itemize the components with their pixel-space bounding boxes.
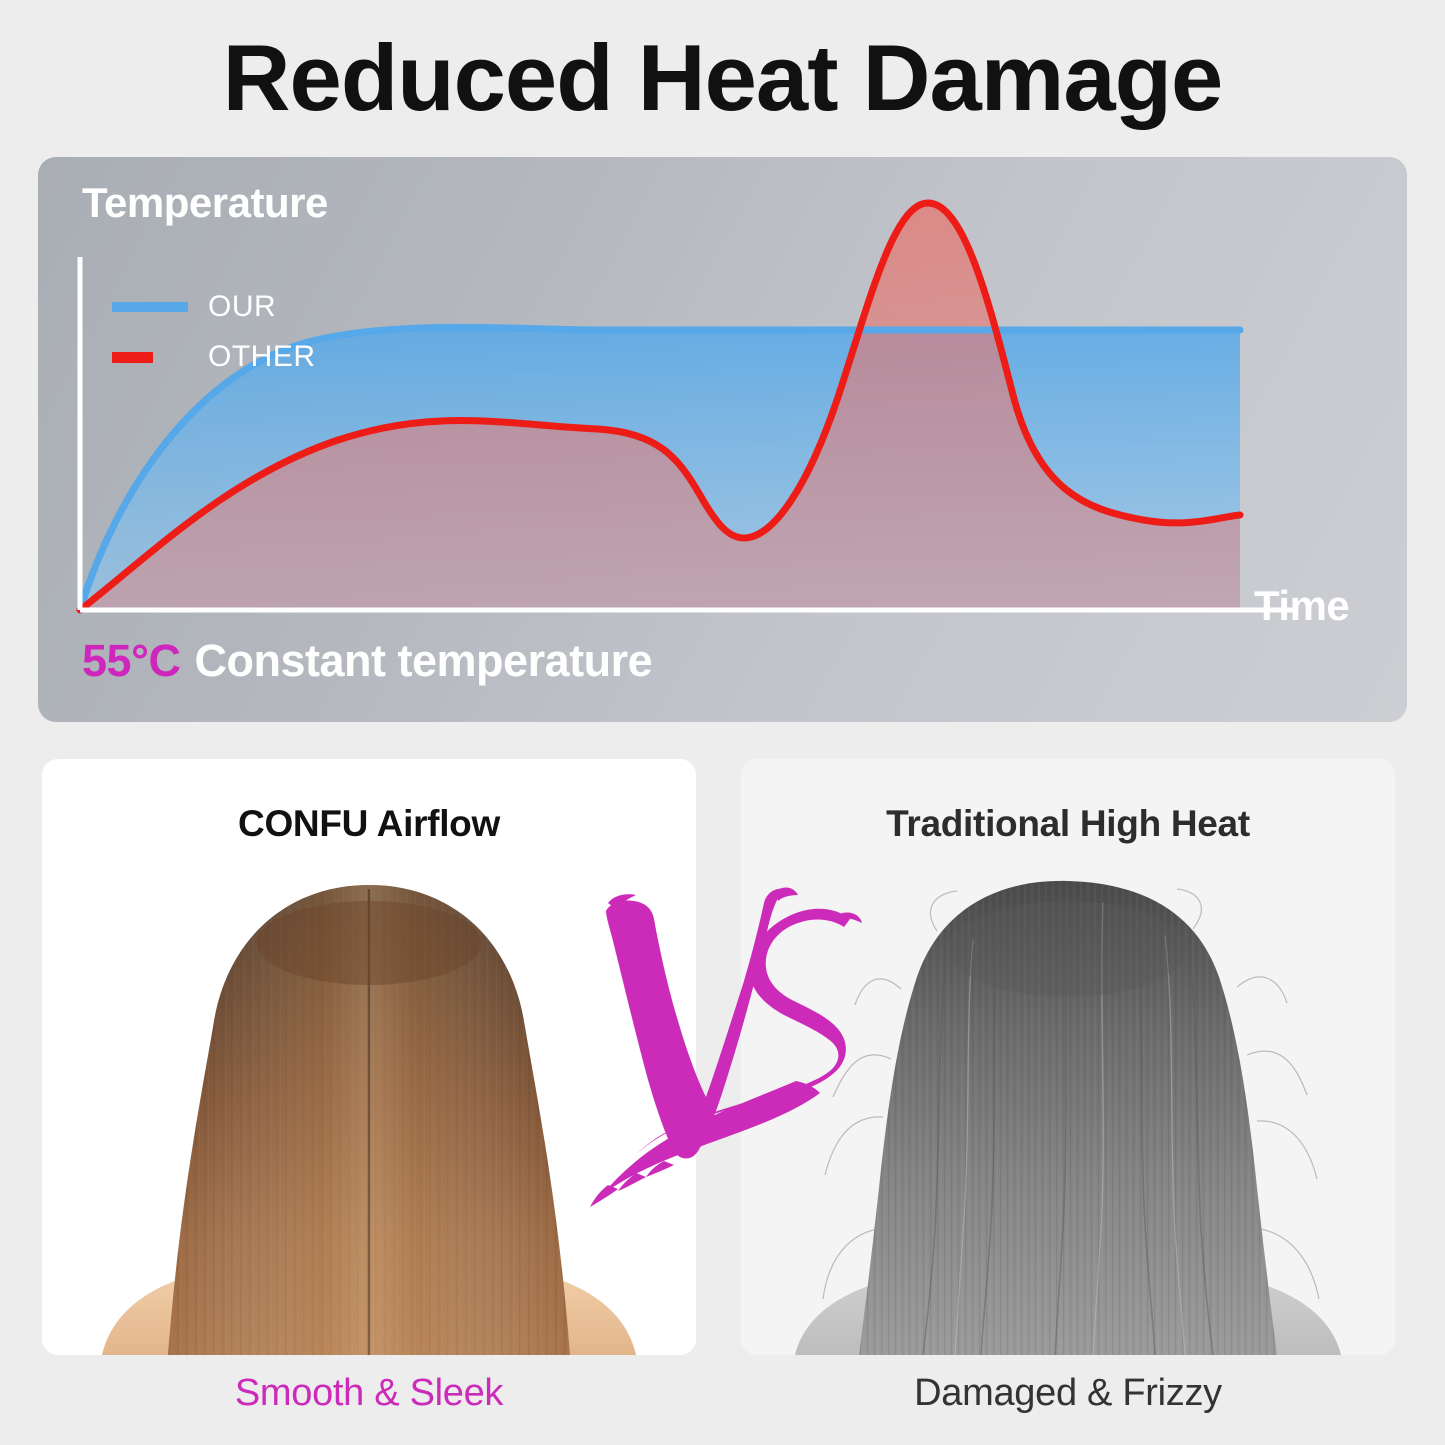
caption-smooth-sleek: Smooth & Sleek (42, 1372, 696, 1415)
legend-item-other: OTHER (112, 332, 316, 382)
vs-brush-mark-icon (588, 885, 864, 1215)
card-heading-traditional: Traditional High Heat (741, 803, 1395, 845)
chart-caption: 55°C Constant temperature (82, 635, 652, 687)
caption-damaged-frizzy: Damaged & Frizzy (741, 1372, 1395, 1415)
chart-legend: OUR OTHER (112, 282, 316, 382)
red-line-swatch-icon (112, 352, 208, 363)
x-axis-title: Time (1254, 582, 1349, 630)
page-title: Reduced Heat Damage (0, 26, 1445, 129)
constant-temperature-label: Constant temperature (195, 635, 653, 687)
blue-line-swatch-icon (112, 302, 208, 312)
legend-label-other: OTHER (208, 340, 316, 374)
constant-temperature-value: 55°C (82, 635, 181, 687)
card-heading-confu: CONFU Airflow (42, 803, 696, 845)
legend-item-our: OUR (112, 282, 316, 332)
legend-label-our: OUR (208, 290, 276, 324)
y-axis-title: Temperature (82, 179, 328, 227)
temperature-chart-panel: Temperature OUR OTHER Time 55°C Constant… (38, 157, 1407, 722)
